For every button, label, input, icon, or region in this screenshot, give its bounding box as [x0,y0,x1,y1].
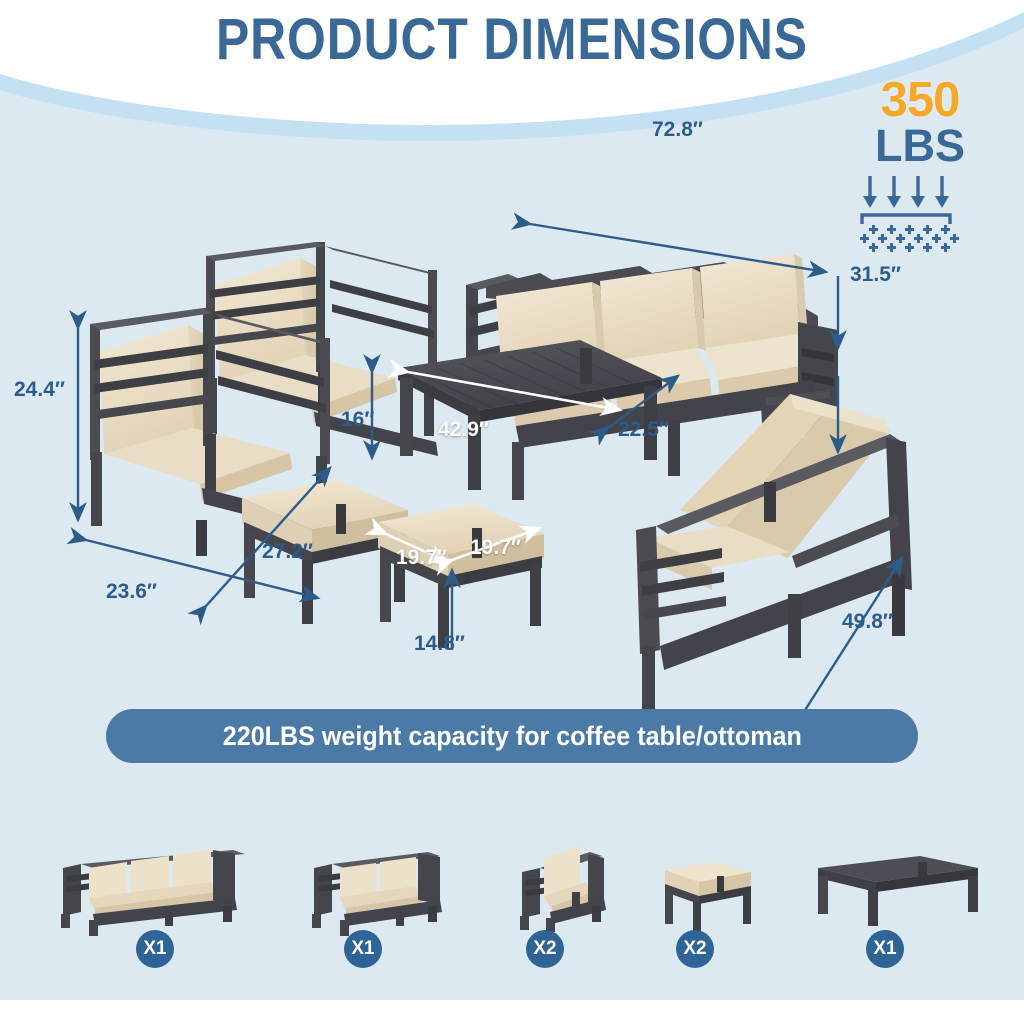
dimension-label-table-height: 16″ [341,408,374,432]
inventory-qty-chair: X2 [526,930,564,968]
dimension-label-sofa-height: 31.5″ [850,263,901,287]
dimension-diagram [0,90,1024,790]
inventory-strip: X1 X1 [0,800,1024,1000]
weight-capacity-banner-text: 220LBS weight capacity for coffee table/… [222,721,801,752]
weight-capacity-banner: 220LBS weight capacity for coffee table/… [106,709,918,763]
dimension-label-table-depth: 22.5″ [618,418,669,442]
inventory-qty-loveseat: X1 [344,930,382,968]
dimension-label-loveseat-width: 49.8″ [842,610,893,634]
inventory-thumb-ottoman[interactable] [655,842,765,932]
inventory-thumb-coffee-table[interactable] [810,848,990,928]
inventory-thumb-sofa[interactable] [45,820,270,930]
inventory-qty-ottoman: X2 [676,930,714,968]
dimension-label-chair-width: 23.6″ [106,580,157,604]
inventory-qty-sofa: X1 [136,930,174,968]
dimension-label-ottoman-height: 14.8″ [414,632,465,656]
dimension-label-ottoman-depth: 19.7″ [470,536,521,560]
inventory-thumb-loveseat[interactable] [300,820,465,930]
dimension-label-sofa-width: 72.8″ [652,118,703,142]
infographic-canvas: PRODUCT DIMENSIONS 350 LBS [0,0,1024,1024]
dimension-label-ottoman-width: 19.7″ [396,546,447,570]
inventory-thumb-chair[interactable] [500,818,620,930]
dimension-label-chair-height: 24.4″ [14,378,65,402]
page-title: PRODUCT DIMENSIONS [72,6,953,73]
dimension-label-table-length: 42.9″ [438,418,489,442]
inventory-qty-coffee-table: X1 [866,930,904,968]
dimension-label-chair-depth: 27.2″ [262,540,313,564]
footer-spacer [0,1000,1024,1024]
